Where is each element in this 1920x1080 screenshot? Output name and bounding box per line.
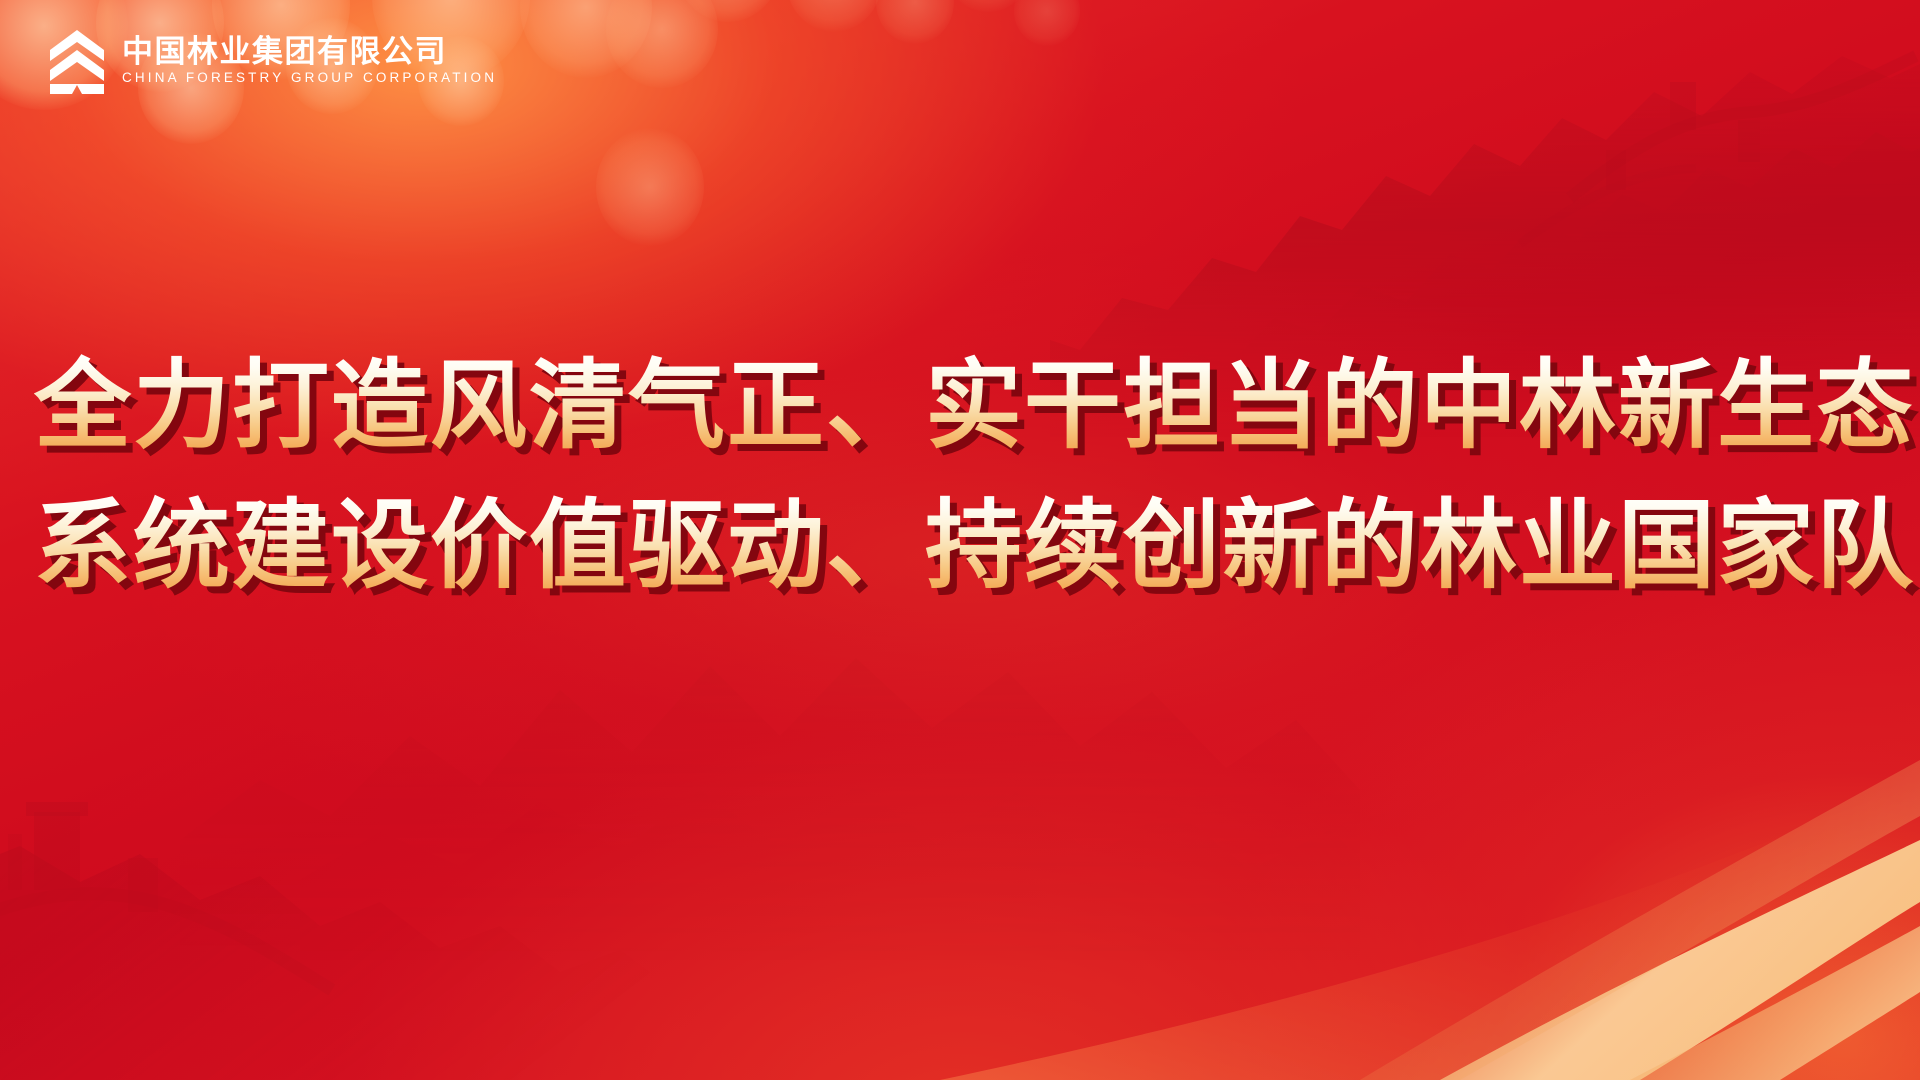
- brand-logo[interactable]: 中国林业集团有限公司 CHINA FORESTRY GROUP CORPORAT…: [46, 28, 497, 94]
- gold-ribbon-swoosh: [940, 720, 1920, 1080]
- brand-name-cn: 中国林业集团有限公司: [122, 37, 497, 68]
- headline-line-1: 全力打造风清气正、实干担当的中林新生态: [34, 336, 1886, 476]
- brand-name-en: CHINA FORESTRY GROUP CORPORATION: [122, 71, 497, 85]
- great-wall-tower-watermark: [0, 750, 720, 1080]
- pagoda-mountain-mark: [46, 28, 108, 94]
- headline-line-2: 系统建设价值驱动、持续创新的林业国家队: [34, 476, 1886, 616]
- headline-line-2-text: 系统建设价值驱动、持续创新的林业国家队: [34, 489, 1915, 602]
- poster-canvas: 中国林业集团有限公司 CHINA FORESTRY GROUP CORPORAT…: [0, 0, 1920, 1080]
- headline-line-1-text: 全力打造风清气正、实干担当的中林新生态: [34, 349, 1915, 462]
- headline-block: 全力打造风清气正、实干担当的中林新生态 系统建设价值驱动、持续创新的林业国家队: [0, 336, 1920, 615]
